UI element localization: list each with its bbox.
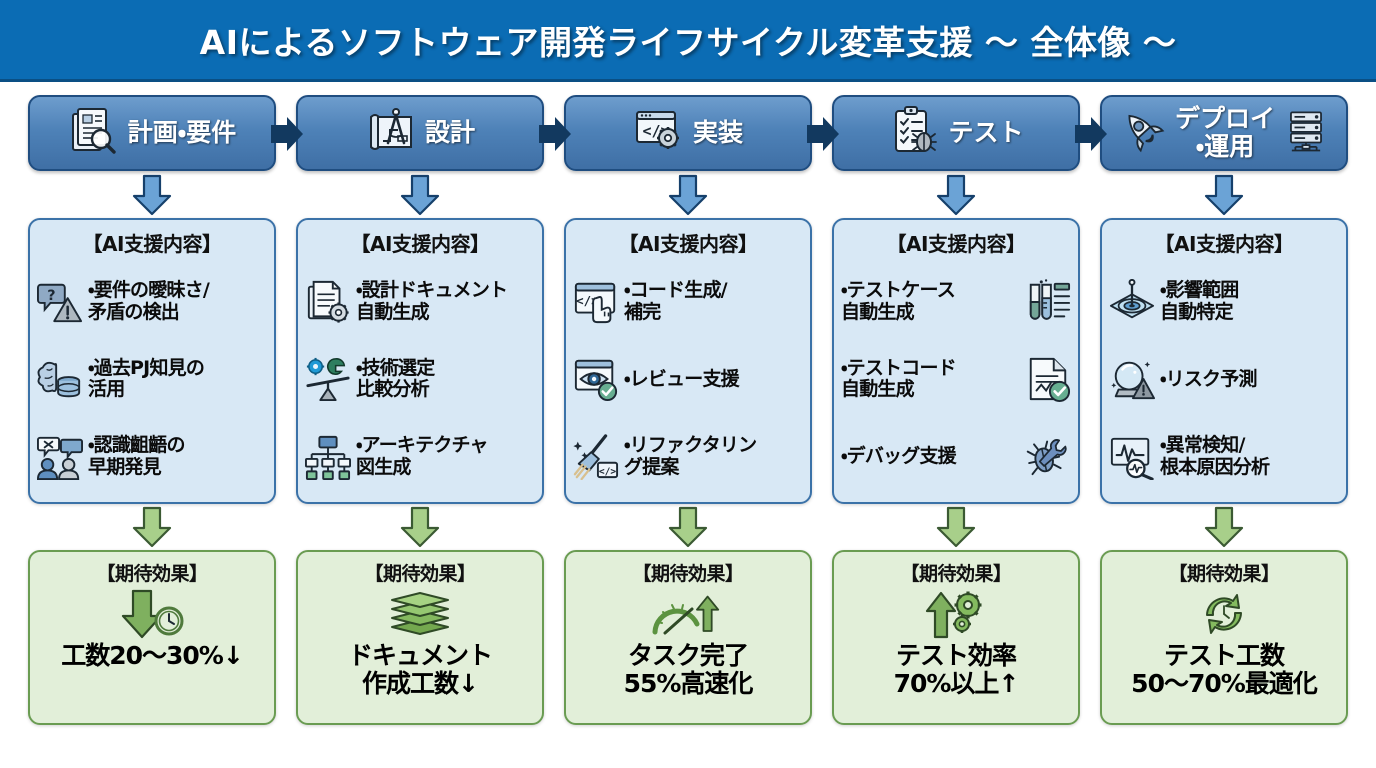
- ai-box-implement: 【AI支援内容】 </> ・コード生成/ 補完: [564, 218, 812, 504]
- ai-item-text: ・技術選定 比較分析: [356, 358, 535, 402]
- effect-title: 【期待効果】: [364, 559, 475, 586]
- up-arrow-gears-icon: [921, 587, 991, 641]
- effect-text: テスト工数 50〜70%最適化: [1131, 642, 1317, 697]
- ai-item: </> ・コード生成/ 補完: [573, 279, 803, 325]
- diagram-board: 計画・要件: [0, 82, 1376, 768]
- effect-text: 工数20〜30%↓: [61, 642, 243, 670]
- ai-box-title: 【AI支援内容】: [1109, 228, 1339, 257]
- ai-item-text: ・異常検知/ 根本原因分析: [1160, 435, 1339, 479]
- ai-item-text: ・要件の曖昧さ/ 矛盾の検出: [88, 280, 267, 324]
- svg-text:</>: </>: [599, 466, 617, 477]
- phase-box-design[interactable]: 設計: [296, 95, 544, 171]
- server-rack-icon: [1283, 108, 1329, 158]
- column-design: 設計: [296, 95, 544, 171]
- down-arrow-blue-4: [935, 174, 977, 216]
- down-arrow-clock-icon: [113, 587, 191, 641]
- title-bar: AIによるソフトウェア開発ライフサイクル変革支援 〜 全体像 〜: [0, 0, 1376, 82]
- column-test: テスト: [832, 95, 1080, 171]
- ai-item: ・テストケース 自動生成: [841, 279, 1071, 325]
- ai-box-title: 【AI支援内容】: [305, 228, 535, 257]
- down-arrow-green-5: [1203, 506, 1245, 548]
- ai-item-list: ・テストケース 自動生成 ・テストコード 自動生成: [841, 263, 1071, 496]
- effect-box-plan: 【期待効果】 工数20〜30%↓: [28, 550, 276, 725]
- green-arrow-row: [28, 504, 1348, 550]
- crystal-ball-risk-icon: [1109, 356, 1155, 402]
- ai-box-title: 【AI支援内容】: [573, 228, 803, 257]
- ai-item: ? ・要件の曖昧さ/ 矛盾の検出: [37, 279, 267, 325]
- ai-item-text: ・過去PJ知見の 活用: [88, 358, 267, 402]
- ai-item-text: ・影響範囲 自動特定: [1160, 280, 1339, 324]
- phase-label-deploy: デプロイ ・運用: [1175, 105, 1275, 161]
- ai-item-text: ・リファクタリン グ提案: [624, 435, 803, 479]
- ai-box-title: 【AI支援内容】: [841, 228, 1071, 257]
- effect-text: テスト効率 70%以上↑: [894, 642, 1019, 697]
- effect-row: 【期待効果】 工数20〜30%↓ 【期待効果】: [28, 550, 1348, 725]
- down-arrow-green-2: [399, 506, 441, 548]
- column-plan: 計画・要件: [28, 95, 276, 171]
- ai-item-text: ・リスク予測: [1160, 369, 1339, 391]
- rocket-icon: [1119, 107, 1167, 159]
- document-check-icon: [1025, 356, 1071, 402]
- ai-item: ・レビュー支援: [573, 356, 803, 402]
- down-arrow-blue-3: [667, 174, 709, 216]
- phase-chevron-2: [538, 115, 572, 153]
- blueprint-compass-icon: [365, 105, 417, 161]
- balance-scale-gear-icon: [305, 356, 351, 402]
- question-warning-icon: ?: [37, 279, 83, 325]
- ai-support-row: 【AI支援内容】 ? ・要件の曖昧さ/ 矛盾の検出: [28, 218, 1348, 504]
- effect-box-design: 【期待効果】 ドキュメント 作成工数↓: [296, 550, 544, 725]
- ai-box-plan: 【AI支援内容】 ? ・要件の曖昧さ/ 矛盾の検出: [28, 218, 276, 504]
- ai-item-list: ? ・要件の曖昧さ/ 矛盾の検出: [37, 263, 267, 496]
- ai-item: ・技術選定 比較分析: [305, 356, 535, 402]
- phase-chevron-4: [1074, 115, 1108, 153]
- ai-item-text: ・アーキテクチャ 図生成: [356, 435, 535, 479]
- ai-item: ・設計ドキュメント 自動生成: [305, 279, 535, 325]
- effect-title: 【期待効果】: [900, 559, 1011, 586]
- ai-item-text: ・コード生成/ 補完: [624, 280, 803, 324]
- ai-item-text: ・設計ドキュメント 自動生成: [356, 280, 535, 324]
- brain-database-icon: [37, 356, 83, 402]
- document-magnifier-icon: [68, 105, 120, 161]
- phase-chevron-3: [806, 115, 840, 153]
- impact-radar-icon: [1109, 279, 1155, 325]
- anomaly-monitor-icon: [1109, 434, 1155, 480]
- phase-box-deploy[interactable]: デプロイ ・運用: [1100, 95, 1348, 171]
- blue-arrow-row: [28, 172, 1348, 218]
- architecture-tree-icon: [305, 434, 351, 480]
- ai-box-design: 【AI支援内容】: [296, 218, 544, 504]
- column-implement: </> 実装: [564, 95, 812, 171]
- ai-item: ・認識齟齬の 早期発見: [37, 434, 267, 480]
- ai-item-list: ・設計ドキュメント 自動生成: [305, 263, 535, 496]
- phase-box-implement[interactable]: </> 実装: [564, 95, 812, 171]
- test-tubes-icon: [1025, 279, 1071, 325]
- effect-box-test: 【期待効果】: [832, 550, 1080, 725]
- effect-box-implement: 【期待効果】 タスク完了 55%高速化: [564, 550, 812, 725]
- down-arrow-green-1: [131, 506, 173, 548]
- down-arrow-blue-1: [131, 174, 173, 216]
- effect-text: ドキュメント 作成工数↓: [348, 642, 492, 697]
- down-arrow-blue-5: [1203, 174, 1245, 216]
- phase-label-test: テスト: [948, 119, 1023, 147]
- effect-text: タスク完了 55%高速化: [624, 642, 753, 697]
- ai-box-test: 【AI支援内容】: [832, 218, 1080, 504]
- ai-item: ・過去PJ知見の 活用: [37, 356, 267, 402]
- page-title: AIによるソフトウェア開発ライフサイクル変革支援 〜 全体像 〜: [200, 16, 1177, 64]
- svg-text:?: ?: [47, 288, 55, 304]
- phase-label-implement: 実装: [693, 119, 743, 147]
- effect-title: 【期待効果】: [632, 559, 743, 586]
- ai-item-text: ・テストケース 自動生成: [841, 280, 1020, 324]
- code-window-gear-icon: </>: [633, 105, 685, 161]
- phase-label-design: 設計: [425, 119, 475, 147]
- ai-item-text: ・デバッグ支援: [841, 446, 1020, 468]
- down-arrow-green-4: [935, 506, 977, 548]
- ai-item-text: ・認識齟齬の 早期発見: [88, 435, 267, 479]
- ai-item-list: </> ・コード生成/ 補完: [573, 263, 803, 496]
- ai-item: ・リスク予測: [1109, 356, 1339, 402]
- effect-title: 【期待効果】: [1168, 559, 1279, 586]
- down-arrow-green-3: [667, 506, 709, 548]
- ai-item: ・テストコード 自動生成: [841, 356, 1071, 402]
- refresh-cycle-icon: [1196, 587, 1252, 641]
- effect-box-deploy: 【期待効果】 テスト工数 50〜70%最適化: [1100, 550, 1348, 725]
- broom-sparkle-code-icon: </>: [573, 434, 619, 480]
- people-mismatch-icon: [37, 434, 83, 480]
- clipboard-bug-icon: [888, 105, 940, 161]
- ai-item: ・影響範囲 自動特定: [1109, 279, 1339, 325]
- ai-box-title: 【AI支援内容】: [37, 228, 267, 257]
- phase-box-plan[interactable]: 計画・要件: [28, 95, 276, 171]
- eye-review-check-icon: [573, 356, 619, 402]
- phase-chevron-1: [270, 115, 304, 153]
- speed-gauge-up-icon: [651, 587, 725, 641]
- code-cursor-icon: </>: [573, 279, 619, 325]
- ai-item-text: ・テストコード 自動生成: [841, 358, 1020, 402]
- ai-item-text: ・レビュー支援: [624, 369, 803, 391]
- ai-item-list: ・影響範囲 自動特定: [1109, 263, 1339, 496]
- phase-label-plan: 計画・要件: [128, 119, 237, 147]
- ai-item: ・異常検知/ 根本原因分析: [1109, 434, 1339, 480]
- document-gear-icon: [305, 279, 351, 325]
- bug-wrench-icon: [1025, 434, 1071, 480]
- ai-box-deploy: 【AI支援内容】 ・影響範囲 自動特定: [1100, 218, 1348, 504]
- down-arrow-blue-2: [399, 174, 441, 216]
- effect-title: 【期待効果】: [96, 559, 207, 586]
- ai-item: ・アーキテクチャ 図生成: [305, 434, 535, 480]
- phase-row: 計画・要件: [28, 94, 1348, 172]
- phase-box-test[interactable]: テスト: [832, 95, 1080, 171]
- column-deploy: デプロイ ・運用: [1100, 95, 1348, 171]
- ai-item: ・デバッグ支援: [841, 434, 1071, 480]
- stacked-documents-icon: [387, 587, 453, 641]
- ai-item: </> ・リファクタリン グ提案: [573, 434, 803, 480]
